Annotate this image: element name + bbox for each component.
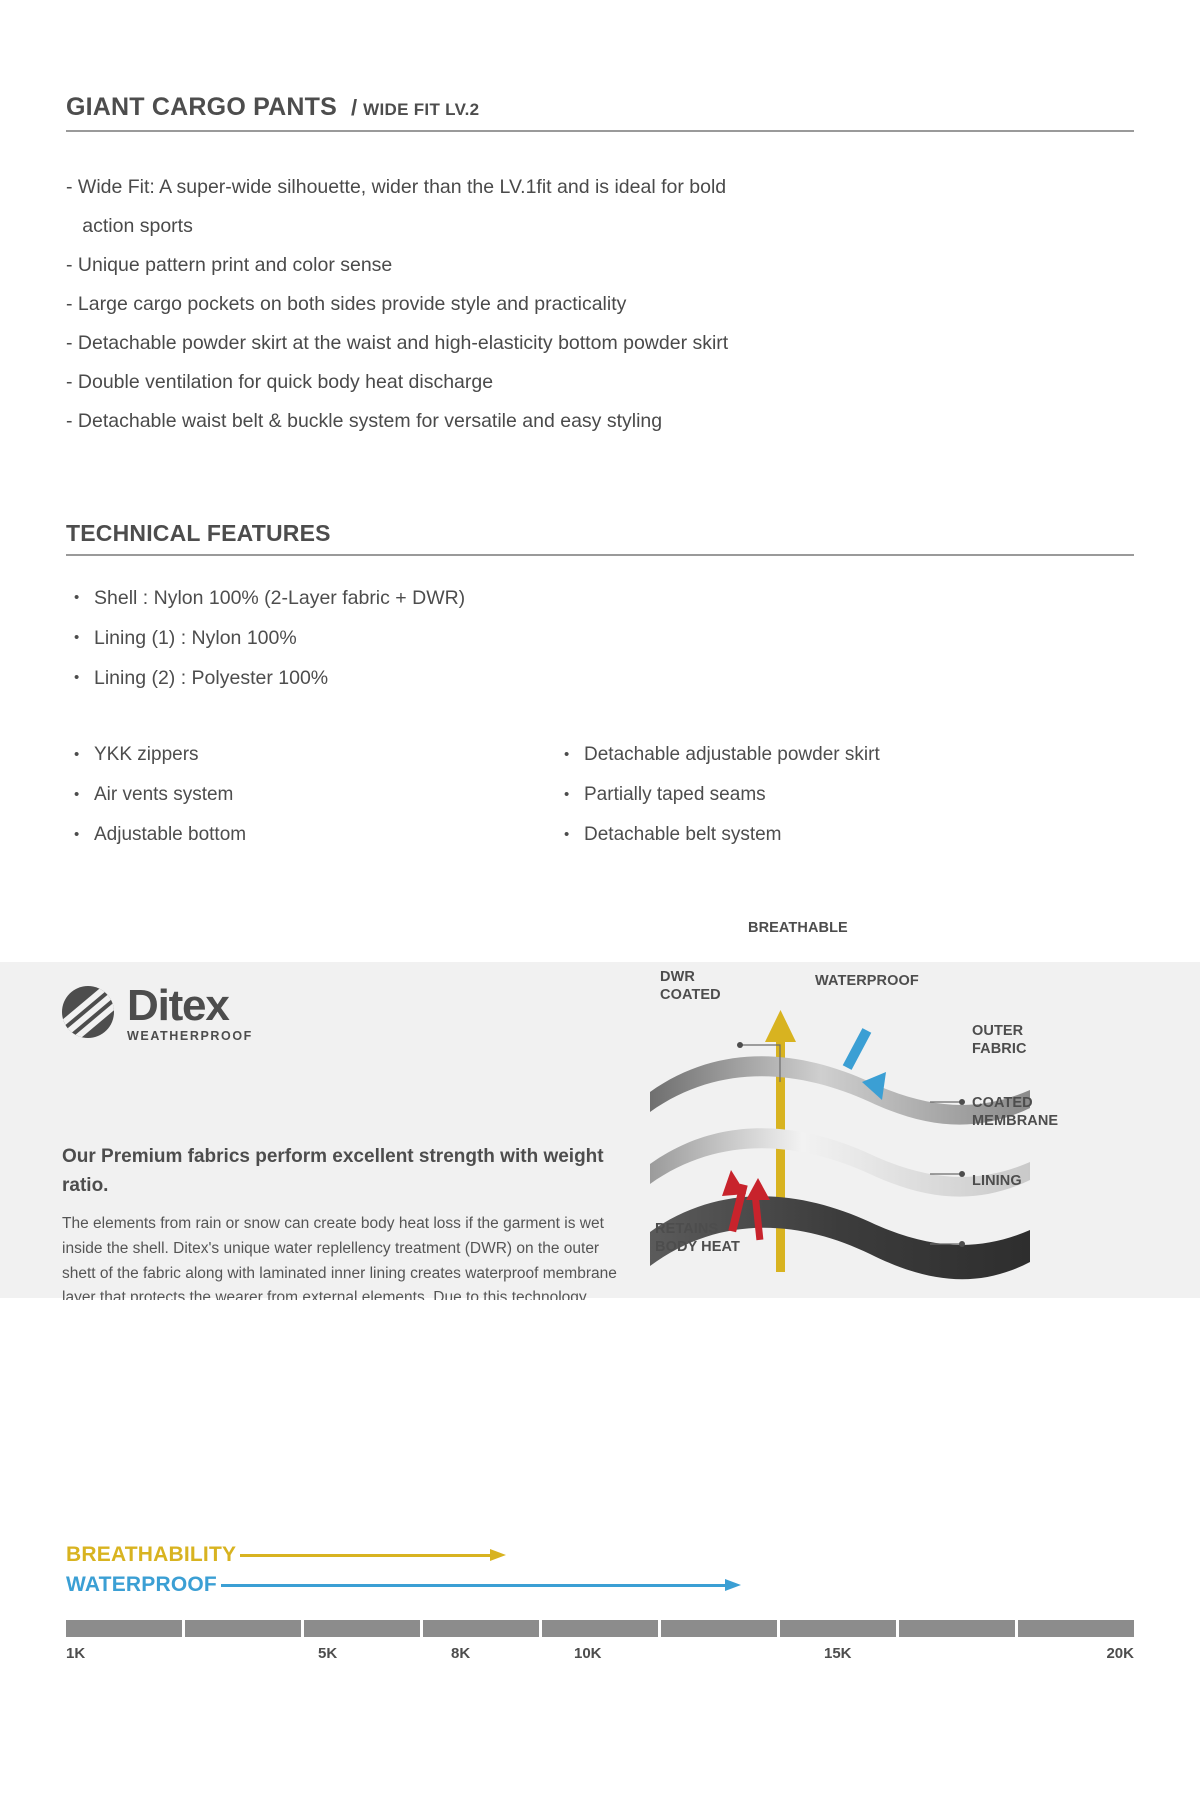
scale-segment: [1018, 1620, 1134, 1637]
scale-tick: 10K: [574, 1645, 602, 1662]
performance-scale-section: BREATHABILITY WATERPROOF: [0, 1300, 1200, 1560]
scale-segment: [423, 1620, 539, 1637]
breathability-row: BREATHABILITY: [66, 1540, 1134, 1570]
product-title: GIANT CARGO PANTS: [66, 93, 337, 122]
list-item: Shell : Nylon 100% (2-Layer fabric + DWR…: [74, 578, 774, 618]
fabric-layers-diagram: BREATHABLE WATERPROOF DWR COATED OUTER F…: [630, 932, 1190, 1312]
ditex-brand-name: Ditex: [127, 984, 253, 1028]
technical-features-title: TECHNICAL FEATURES: [66, 520, 1134, 547]
product-feature-list: - Wide Fit: A super-wide silhouette, wid…: [66, 168, 1086, 441]
label-outer-fabric: OUTER FABRIC: [972, 1022, 1027, 1058]
waterproof-row: WATERPROOF: [66, 1570, 1134, 1600]
scale-tick: 15K: [824, 1645, 852, 1662]
scale-tick: 1K: [66, 1645, 85, 1662]
list-item: Partially taped seams: [564, 775, 1054, 815]
label-waterproof: WATERPROOF: [815, 972, 919, 990]
scale-segment: [304, 1620, 420, 1637]
label-retains-body-heat: RETAINS BODY HEAT: [655, 1220, 740, 1256]
scale-segment: [542, 1620, 658, 1637]
product-spec-page: GIANT CARGO PANTS / WIDE FIT LV.2 - Wide…: [0, 0, 1200, 1800]
list-item: YKK zippers: [74, 735, 564, 775]
waterproof-label: WATERPROOF: [66, 1573, 217, 1597]
list-item: Detachable belt system: [564, 815, 1054, 855]
scale-segments: [66, 1620, 1134, 1637]
ditex-logo-text: Ditex WEATHERPROOF: [127, 984, 253, 1043]
scale-segment: [185, 1620, 301, 1637]
list-item: - Large cargo pockets on both sides prov…: [66, 285, 1086, 324]
performance-legend: BREATHABILITY WATERPROOF: [66, 1540, 1134, 1600]
technical-features-heading: TECHNICAL FEATURES: [66, 520, 1134, 556]
ditex-circle-stripes-icon: [62, 986, 114, 1038]
scale-tick: 5K: [318, 1645, 337, 1662]
list-item: - Detachable powder skirt at the waist a…: [66, 324, 1086, 363]
list-item: Lining (2) : Polyester 100%: [74, 658, 774, 698]
ditex-logo: Ditex WEATHERPROOF: [62, 984, 253, 1043]
breathability-label: BREATHABILITY: [66, 1543, 236, 1567]
label-breathable: BREATHABLE: [748, 919, 848, 937]
label-dwr-coated: DWR COATED: [660, 968, 721, 1004]
technical-feature-columns: YKK zippers Air vents system Adjustable …: [74, 735, 1094, 855]
list-item: - Unique pattern print and color sense: [66, 246, 1086, 285]
ditex-brand-tagline: WEATHERPROOF: [127, 1029, 253, 1043]
label-coated-membrane: COATED MEMBRANE: [972, 1094, 1058, 1130]
performance-scale-bar: 1K 5K 8K 10K 15K 20K: [66, 1620, 1134, 1671]
list-item: Adjustable bottom: [74, 815, 564, 855]
list-item: - Detachable waist belt & buckle system …: [66, 402, 1086, 441]
technical-feature-column-right: Detachable adjustable powder skirt Parti…: [564, 735, 1054, 855]
scale-segment: [661, 1620, 777, 1637]
product-subtitle: WIDE FIT LV.2: [363, 100, 479, 120]
ditex-lead-text: Our Premium fabrics perform excellent st…: [62, 1142, 622, 1200]
scale-segment: [780, 1620, 896, 1637]
material-composition-list: Shell : Nylon 100% (2-Layer fabric + DWR…: [74, 578, 774, 698]
title-separator: /: [351, 95, 357, 121]
list-item: Lining (1) : Nylon 100%: [74, 618, 774, 658]
product-overview-section: GIANT CARGO PANTS / WIDE FIT LV.2 - Wide…: [0, 0, 1200, 960]
list-item: - Wide Fit: A super-wide silhouette, wid…: [66, 168, 1086, 246]
page-title: GIANT CARGO PANTS / WIDE FIT LV.2: [66, 93, 1134, 132]
scale-segment: [899, 1620, 1015, 1637]
scale-tick: 8K: [451, 1645, 470, 1662]
scale-segment: [66, 1620, 182, 1637]
label-lining: LINING: [972, 1172, 1022, 1190]
list-item: Detachable adjustable powder skirt: [564, 735, 1054, 775]
scale-tick-labels: 1K 5K 8K 10K 15K 20K: [66, 1645, 1134, 1671]
technical-feature-column-left: YKK zippers Air vents system Adjustable …: [74, 735, 564, 855]
scale-tick: 20K: [1106, 1645, 1134, 1662]
ditex-brand-section: Ditex WEATHERPROOF Our Premium fabrics p…: [0, 962, 1200, 1298]
list-item: - Double ventilation for quick body heat…: [66, 363, 1086, 402]
breathability-arrow-icon: [240, 1549, 510, 1561]
list-item: Air vents system: [74, 775, 564, 815]
waterproof-arrow-icon: [221, 1579, 746, 1591]
